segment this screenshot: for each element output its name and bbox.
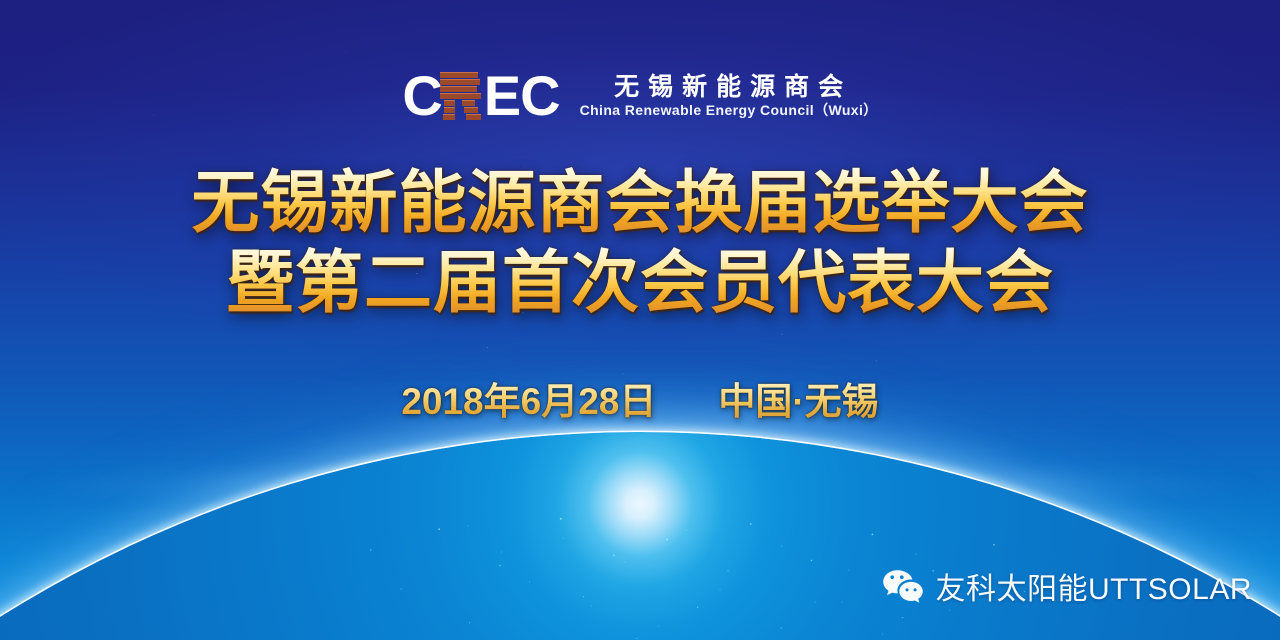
logo-letter-c-first: C (402, 68, 441, 124)
wechat-account-name: 友科太阳能UTTSOLAR (935, 564, 1252, 608)
logo-letter-c-second: C (520, 68, 559, 124)
wechat-watermark: 友科太阳能UTTSOLAR (882, 564, 1252, 608)
crec-acronym: C E C (402, 68, 559, 124)
earth-atmosphere-halo (160, 340, 1160, 512)
event-title-line-2: 暨第二届首次会员代表大会 (0, 243, 1280, 323)
event-title: 无锡新能源商会换届选举大会 暨第二届首次会员代表大会 (0, 163, 1280, 323)
org-name-english: China Renewable Energy Council（Wuxi） (580, 103, 878, 118)
event-location: 中国·无锡 (718, 371, 878, 425)
org-name-chinese: 无锡新能源商会 (605, 74, 852, 100)
earth-limb-streak (0, 424, 1280, 544)
wechat-icon (882, 568, 924, 604)
event-meta: 2018年6月28日 中国·无锡 (0, 371, 1280, 425)
earth-body (0, 432, 1280, 640)
event-title-line-1: 无锡新能源商会换届选举大会 (0, 163, 1280, 243)
event-poster: C E C 无锡新能源商会 China Renewable Energy Cou… (0, 0, 1280, 640)
solar-panel-r-icon (440, 70, 482, 122)
crec-logo: C E C 无锡新能源商会 China Renewable Energy Cou… (0, 68, 1280, 124)
logo-letter-e: E (484, 68, 520, 124)
earth-horizon-rim (0, 432, 1280, 640)
org-name-block: 无锡新能源商会 China Renewable Energy Council（W… (580, 74, 878, 118)
event-date: 2018年6月28日 (401, 371, 656, 425)
earth-city-lights (0, 432, 1280, 640)
